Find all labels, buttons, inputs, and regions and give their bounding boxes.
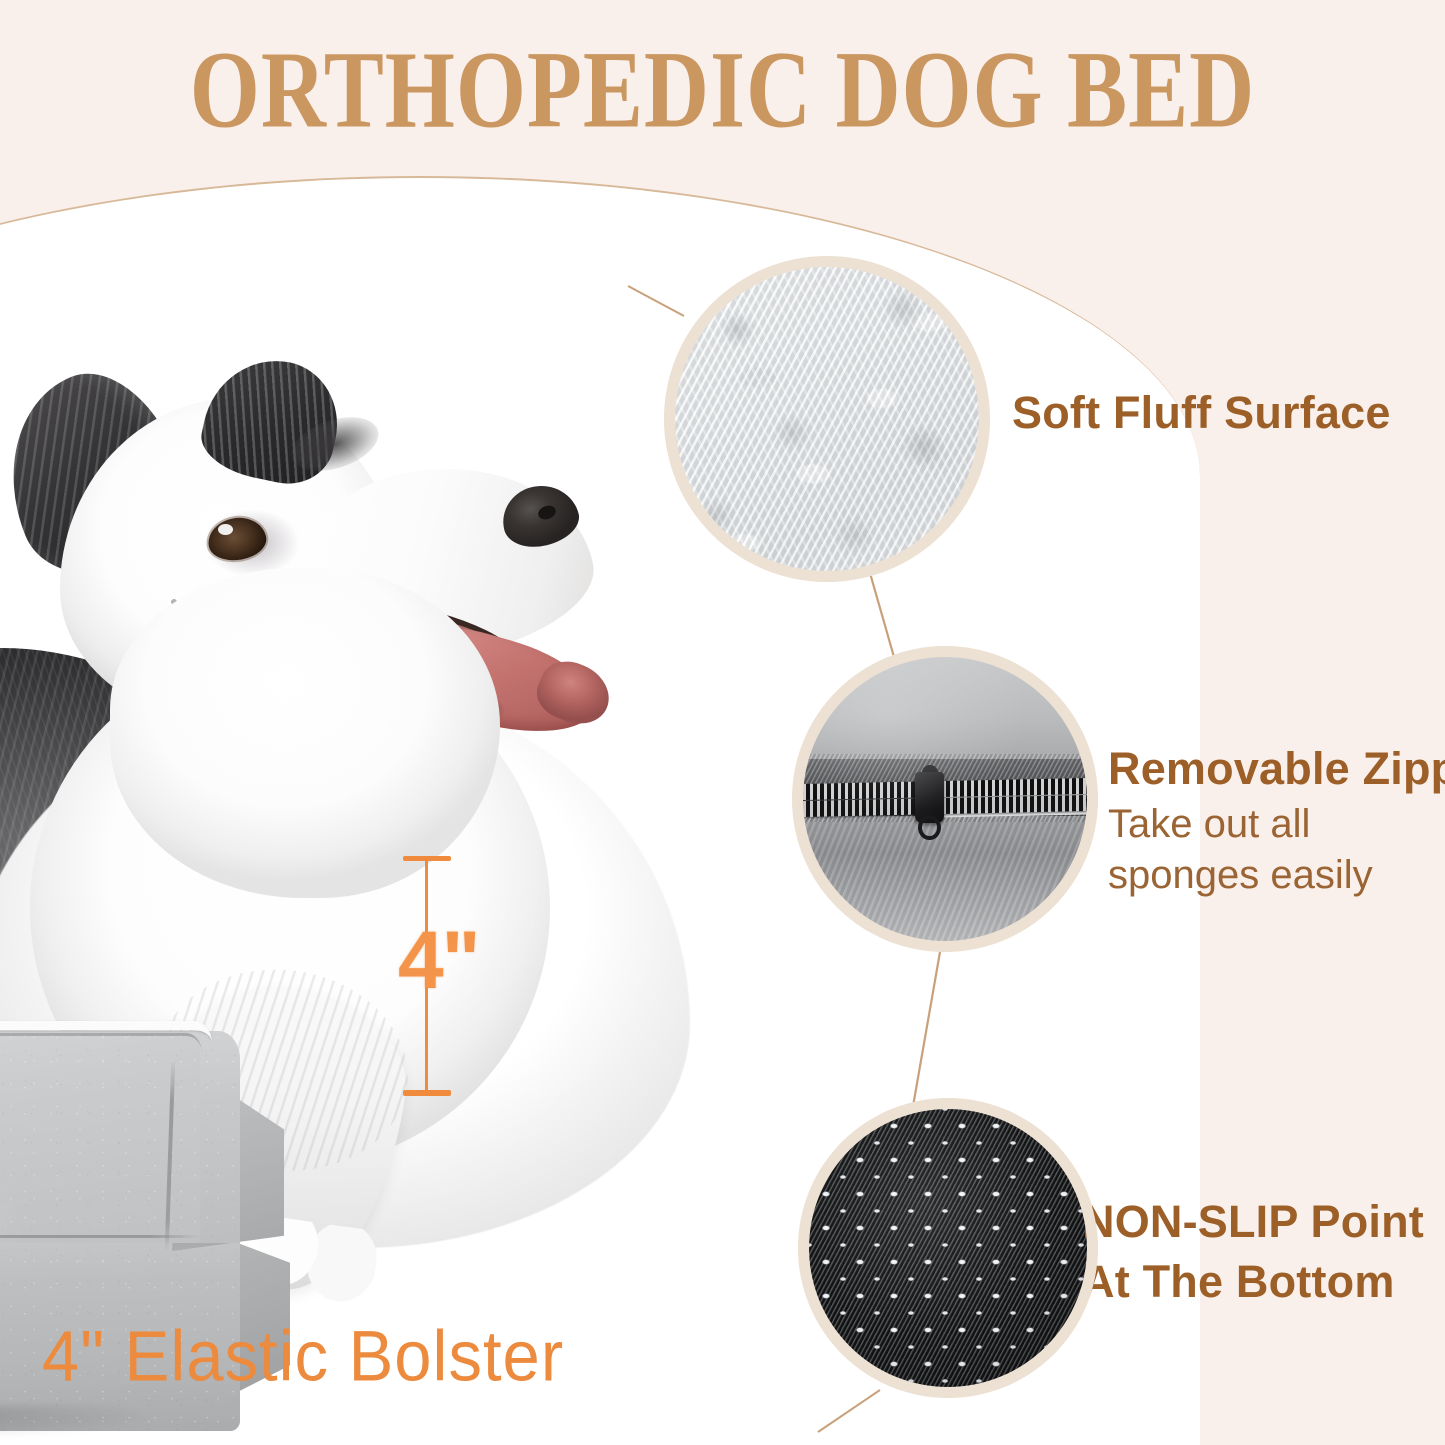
bed-drop-shadow xyxy=(0,1405,300,1445)
feature-swatch-non-slip-bottom xyxy=(798,1098,1098,1398)
feature-label-removable-zipper: Removable Zipper Take out all sponges ea… xyxy=(1108,740,1445,901)
elastic-bolster-caption: 4" Elastic Bolster xyxy=(42,1316,564,1398)
feature-subtext-removable-zipper: Take out all sponges easily xyxy=(1108,799,1445,901)
fluff-shadow-overlay xyxy=(675,267,979,571)
dimension-cap-bottom xyxy=(403,1090,451,1096)
feature-heading-non-slip-line2: At The Bottom xyxy=(1082,1252,1424,1312)
nonslip-swatch-image xyxy=(809,1109,1087,1387)
product-infographic: ORTHOPEDIC DOG BED xyxy=(0,0,1445,1445)
bed-white-piping-trim xyxy=(0,1021,212,1251)
dimension-label: 4" xyxy=(398,920,478,1002)
zipper-highlight-overlay xyxy=(803,657,1087,941)
fluff-swatch-image xyxy=(675,267,979,571)
feature-heading-removable-zipper: Removable Zipper xyxy=(1108,740,1445,799)
feature-swatch-removable-zipper xyxy=(792,646,1098,952)
dog-eye-glint xyxy=(218,524,233,535)
feature-heading-soft-fluff: Soft Fluff Surface xyxy=(1012,384,1391,443)
zipper-swatch-image xyxy=(803,657,1087,941)
page-title: ORTHOPEDIC DOG BED xyxy=(58,36,1387,146)
dog-neck xyxy=(110,568,500,898)
feature-swatch-soft-fluff xyxy=(664,256,990,582)
feature-label-soft-fluff: Soft Fluff Surface xyxy=(1012,384,1391,443)
feature-label-non-slip: NON-SLIP Point At The Bottom xyxy=(1082,1192,1424,1313)
feature-heading-non-slip-line1: NON-SLIP Point xyxy=(1082,1192,1424,1252)
nonslip-vignette-overlay xyxy=(809,1109,1087,1387)
